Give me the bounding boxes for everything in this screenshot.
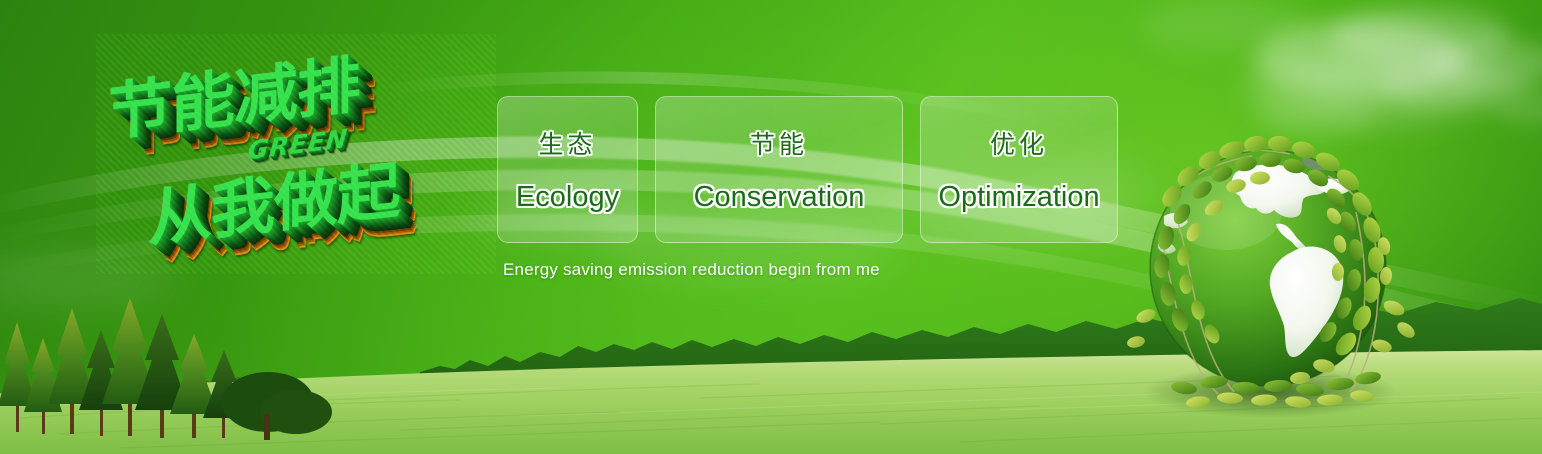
feature-card-title-en: Optimization (938, 181, 1099, 214)
feature-card-ecology[interactable]: 生态 Ecology (497, 96, 638, 243)
green-energy-banner: 节能减排 GREEN 从我做起 生态 Ecology 节能 Conservati… (0, 0, 1542, 454)
feature-card-title-en: Conservation (694, 181, 865, 214)
cloud-icon (1330, 8, 1510, 64)
feature-card-optimization[interactable]: 优化 Optimization (920, 96, 1118, 243)
headline-line-2: 从我做起 (148, 140, 399, 259)
cloud-icon (1380, 62, 1530, 106)
cloud-icon (1245, 52, 1495, 122)
cloud-icon (1430, 40, 1542, 86)
leaf-globe-icon (1118, 120, 1418, 420)
feature-card-list: 生态 Ecology 节能 Conservation 优化 Optimizati… (497, 96, 1118, 243)
cloud-icon (1140, 0, 1310, 50)
feature-card-title-en: Ecology (516, 181, 619, 214)
feature-card-conservation[interactable]: 节能 Conservation (655, 96, 903, 243)
cloud-icon (1490, 90, 1542, 124)
feature-card-title-cn: 优化 (990, 125, 1048, 161)
feature-card-title-cn: 节能 (750, 125, 808, 161)
feature-card-title-cn: 生态 (538, 125, 596, 161)
cloud-icon (1255, 20, 1465, 96)
banner-tagline: Energy saving emission reduction begin f… (503, 260, 880, 280)
headline-3d-text: 节能减排 GREEN 从我做起 (96, 34, 496, 274)
